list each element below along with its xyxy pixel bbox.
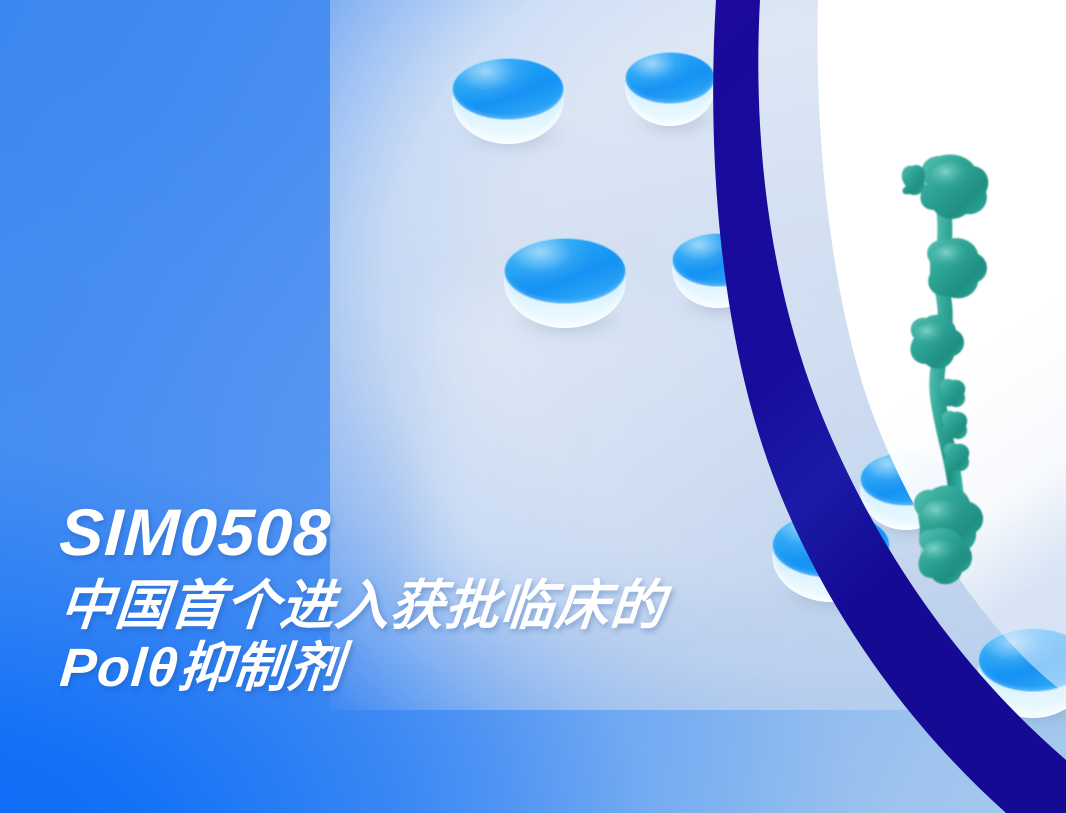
protein-structure-icon bbox=[880, 150, 1066, 590]
product-code: SIM0508 bbox=[58, 499, 901, 565]
tagline-line-2: Polθ抑制剂 bbox=[58, 641, 903, 695]
title-block: SIM0508 中国首个进入获批临床的 Polθ抑制剂 bbox=[58, 499, 898, 695]
poster-canvas: SIM0508 中国首个进入获批临床的 Polθ抑制剂 bbox=[0, 0, 1066, 813]
tagline-line-1: 中国首个进入获批临床的 bbox=[58, 579, 903, 633]
